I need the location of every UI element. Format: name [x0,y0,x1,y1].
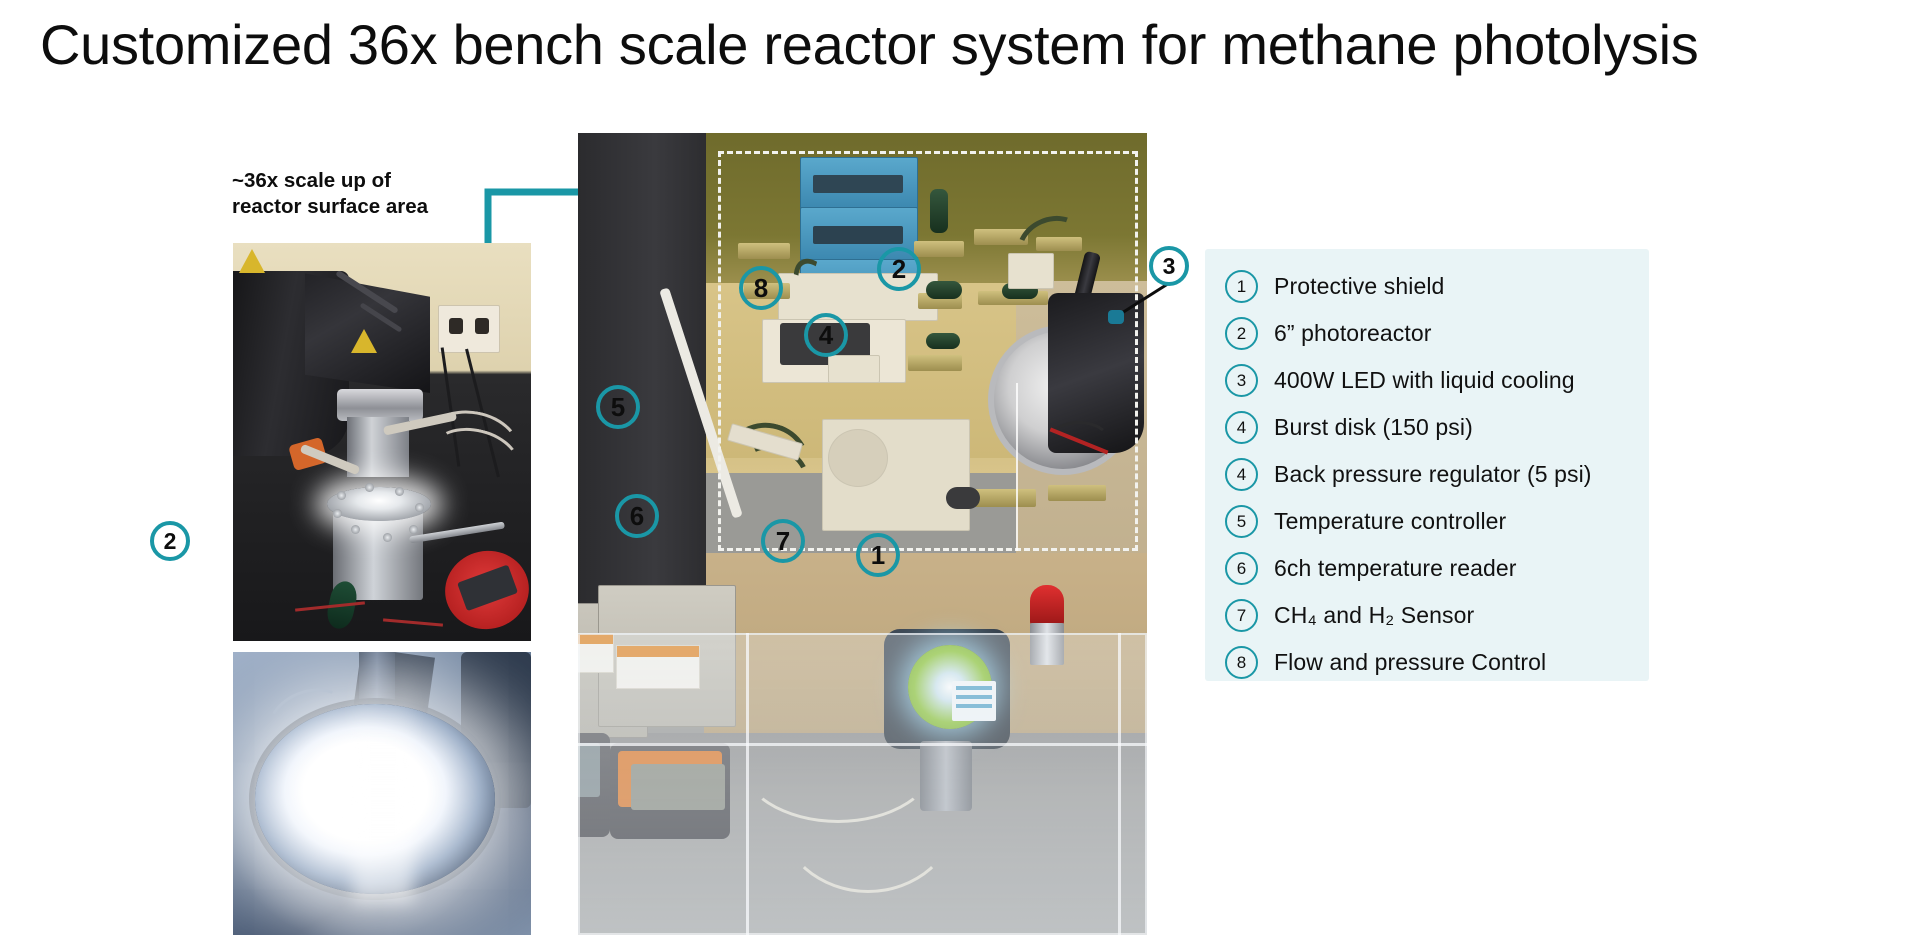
photo-marker-8: 8 [739,266,783,310]
slide-canvas: Customized 36x bench scale reactor syste… [0,0,1920,942]
legend-label-4b: Back pressure regulator (5 psi) [1274,461,1592,488]
legend-item-3: 3 400W LED with liquid cooling [1205,357,1649,404]
legend-badge-5: 5 [1225,505,1258,538]
legend-panel: 1 Protective shield 2 6” photoreactor 3 … [1205,249,1649,681]
legend-item-6: 6 6ch temperature reader [1205,545,1649,592]
photo-marker-4: 4 [804,313,848,357]
legend-label-7: CH₄ and H₂ Sensor [1274,602,1474,629]
photo-marker-2-bottom-left: 2 [150,521,190,561]
callout-line-1: ~36x scale up of [232,168,492,194]
legend-badge-8: 8 [1225,646,1258,679]
photo-marker-5: 5 [596,385,640,429]
photo-marker-3-led: 3 [1149,246,1189,286]
legend-badge-6: 6 [1225,552,1258,585]
photo-marker-7: 7 [761,519,805,563]
small-lab-scale-reactor-photo [233,243,531,641]
legend-badge-4b: 4 [1225,458,1258,491]
legend-label-1: Protective shield [1274,273,1444,300]
legend-item-4-burst-disk: 4 Burst disk (150 psi) [1205,404,1649,451]
legend-item-4-back-pressure-regulator: 4 Back pressure regulator (5 psi) [1205,451,1649,498]
legend-label-3: 400W LED with liquid cooling [1274,367,1575,394]
legend-item-7: 7 CH₄ and H₂ Sensor [1205,592,1649,639]
legend-badge-4a: 4 [1225,411,1258,444]
legend-item-8: 8 Flow and pressure Control [1205,639,1649,686]
scale-up-callout-note: ~36x scale up of reactor surface area [232,168,492,220]
legend-label-8: Flow and pressure Control [1274,649,1546,676]
legend-badge-2: 2 [1225,317,1258,350]
legend-item-1: 1 Protective shield [1205,263,1649,310]
legend-item-5: 5 Temperature controller [1205,498,1649,545]
legend-badge-7: 7 [1225,599,1258,632]
legend-label-4a: Burst disk (150 psi) [1274,414,1473,441]
legend-label-6: 6ch temperature reader [1274,555,1517,582]
callout-line-2: reactor surface area [232,194,492,220]
legend-item-2: 2 6” photoreactor [1205,310,1649,357]
page-title: Customized 36x bench scale reactor syste… [40,14,1900,76]
legend-label-2: 6” photoreactor [1274,320,1431,347]
legend-badge-1: 1 [1225,270,1258,303]
illuminated-reactor-closeup-photo [233,652,531,935]
legend-badge-3: 3 [1225,364,1258,397]
photo-marker-6: 6 [615,494,659,538]
bench-scale-reactor-system-photo: 8 2 4 5 6 7 1 [578,133,1147,935]
photo-marker-2-reactor: 2 [877,247,921,291]
legend-label-5: Temperature controller [1274,508,1506,535]
photo-marker-1: 1 [856,533,900,577]
